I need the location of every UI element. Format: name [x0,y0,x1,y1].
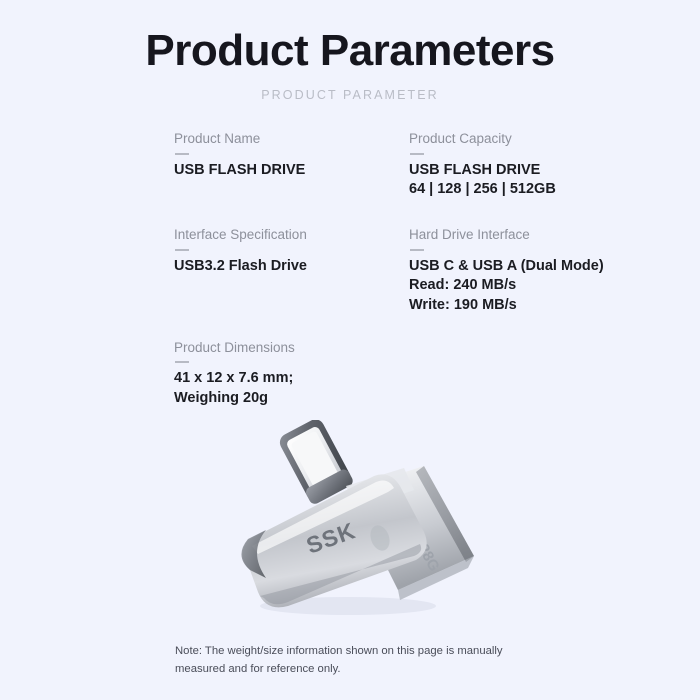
product-image-usb-flash-drive: 128G FD003 SSK [228,420,493,625]
page-title: Product Parameters [0,26,700,77]
parameter-row-1: Product Name USB FLASH DRIVE Product Cap… [174,130,644,200]
parameter-value: USB FLASH DRIVE [174,161,399,181]
parameter-value: 64 | 128 | 256 | 512GB [409,180,644,200]
row-spacer [174,200,644,226]
parameter-value: USB FLASH DRIVE [409,161,644,181]
footer-note: Note: The weight/size information shown … [175,643,555,678]
parameter-value: USB3.2 Flash Drive [174,257,399,277]
parameter-block-product-name: Product Name USB FLASH DRIVE [174,130,409,200]
product-parameters-page: Product Parameters PRODUCT PARAMETER Pro… [0,0,700,700]
parameter-label: Product Name [174,130,399,148]
divider-dash [410,153,424,155]
parameter-label: Interface Specification [174,226,399,244]
parameter-label: Product Dimensions [174,339,399,357]
parameter-value: USB C & USB A (Dual Mode) [409,257,644,277]
parameter-value: Weighing 20g [174,389,399,409]
parameter-block-hard-drive-interface: Hard Drive Interface USB C & USB A (Dual… [409,226,644,316]
parameter-row-2: Interface Specification USB3.2 Flash Dri… [174,226,644,316]
parameter-value-write-speed: Write: 190 MB/s [409,296,644,316]
parameter-block-product-capacity: Product Capacity USB FLASH DRIVE 64 | 12… [409,130,644,200]
row-spacer [174,316,644,339]
parameter-block-product-dimensions: Product Dimensions 41 x 12 x 7.6 mm; Wei… [174,339,409,409]
parameter-row-3: Product Dimensions 41 x 12 x 7.6 mm; Wei… [174,339,644,409]
parameter-block-interface-specification: Interface Specification USB3.2 Flash Dri… [174,226,409,316]
parameter-grid: Product Name USB FLASH DRIVE Product Cap… [174,130,644,409]
divider-dash [410,249,424,251]
page-subtitle: PRODUCT PARAMETER [0,88,700,102]
parameter-block-empty [409,339,644,409]
divider-dash [175,153,189,155]
divider-dash [175,249,189,251]
page-header: Product Parameters PRODUCT PARAMETER [0,0,700,102]
divider-dash [175,361,189,363]
parameter-label: Product Capacity [409,130,644,148]
parameter-label: Hard Drive Interface [409,226,644,244]
parameter-value: 41 x 12 x 7.6 mm; [174,369,399,389]
parameter-value-read-speed: Read: 240 MB/s [409,276,644,296]
